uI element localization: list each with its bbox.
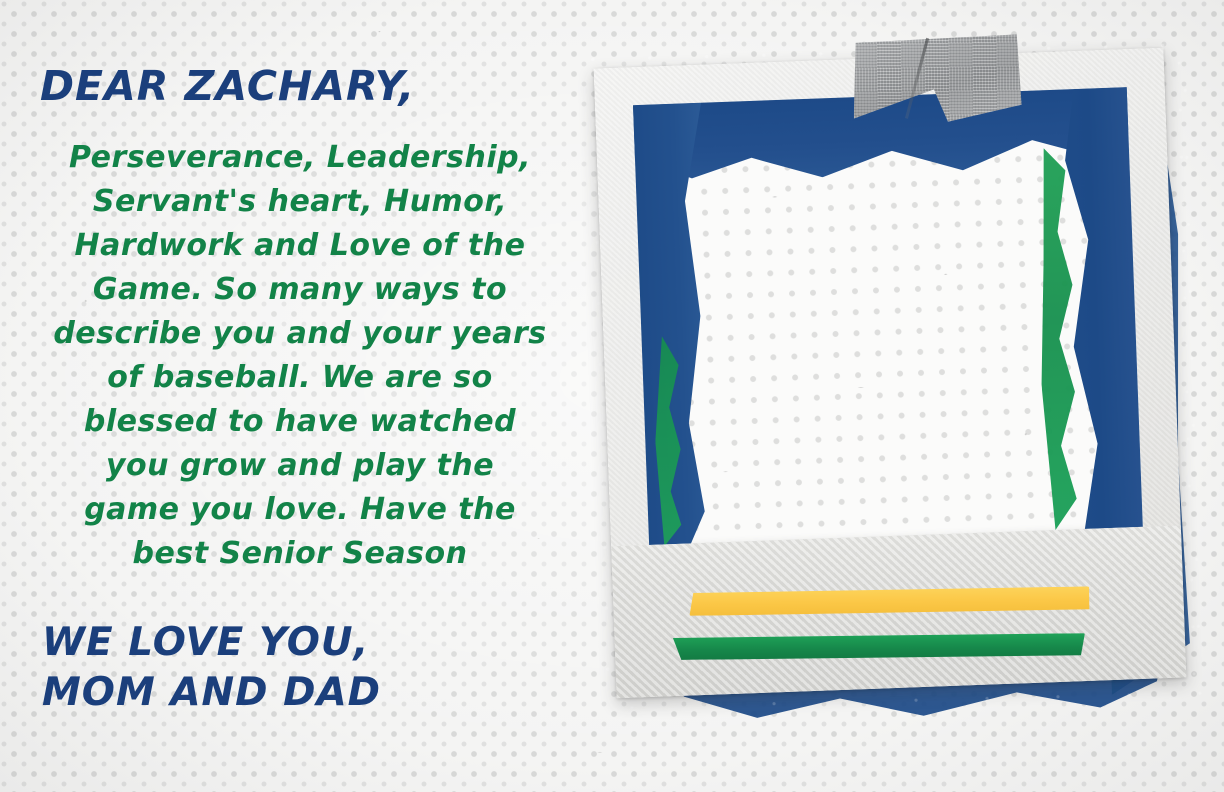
letter-body-line: game you love. Have the bbox=[36, 488, 564, 532]
photo-artwork bbox=[575, 10, 1224, 792]
photo-speckles bbox=[633, 87, 1143, 545]
letter-body: Perseverance, Leadership, Servant's hear… bbox=[36, 136, 564, 576]
letter-body-line: of baseball. We are so bbox=[36, 356, 564, 400]
letter-body-line: Servant's heart, Humor, bbox=[36, 180, 564, 224]
greeting-heading: Dear Zachary, bbox=[40, 62, 415, 110]
polaroid-photo-frame[interactable] bbox=[594, 48, 1187, 698]
letter-body-line: Game. So many ways to bbox=[36, 268, 564, 312]
photo-window[interactable] bbox=[633, 87, 1143, 545]
tape-weave-texture bbox=[852, 34, 1022, 123]
letter-body-line: Perseverance, Leadership, bbox=[36, 136, 564, 180]
signature-block: We love you, Mom and Dad bbox=[42, 618, 381, 718]
duct-tape[interactable] bbox=[852, 34, 1022, 123]
card-canvas: Dear Zachary, Perseverance, Leadership, … bbox=[0, 0, 1224, 792]
letter-body-line: blessed to have watched bbox=[36, 400, 564, 444]
signature-line: We love you, bbox=[42, 618, 381, 668]
signature-line: Mom and Dad bbox=[42, 668, 381, 718]
letter-body-line: you grow and play the bbox=[36, 444, 564, 488]
letter-column: Dear Zachary, Perseverance, Leadership, … bbox=[0, 0, 600, 792]
letter-body-line: describe you and your years bbox=[36, 312, 564, 356]
letter-body-line: best Senior Season bbox=[36, 532, 564, 576]
letter-body-line: Hardwork and Love of the bbox=[36, 224, 564, 268]
polaroid-caption-strip bbox=[611, 525, 1186, 698]
